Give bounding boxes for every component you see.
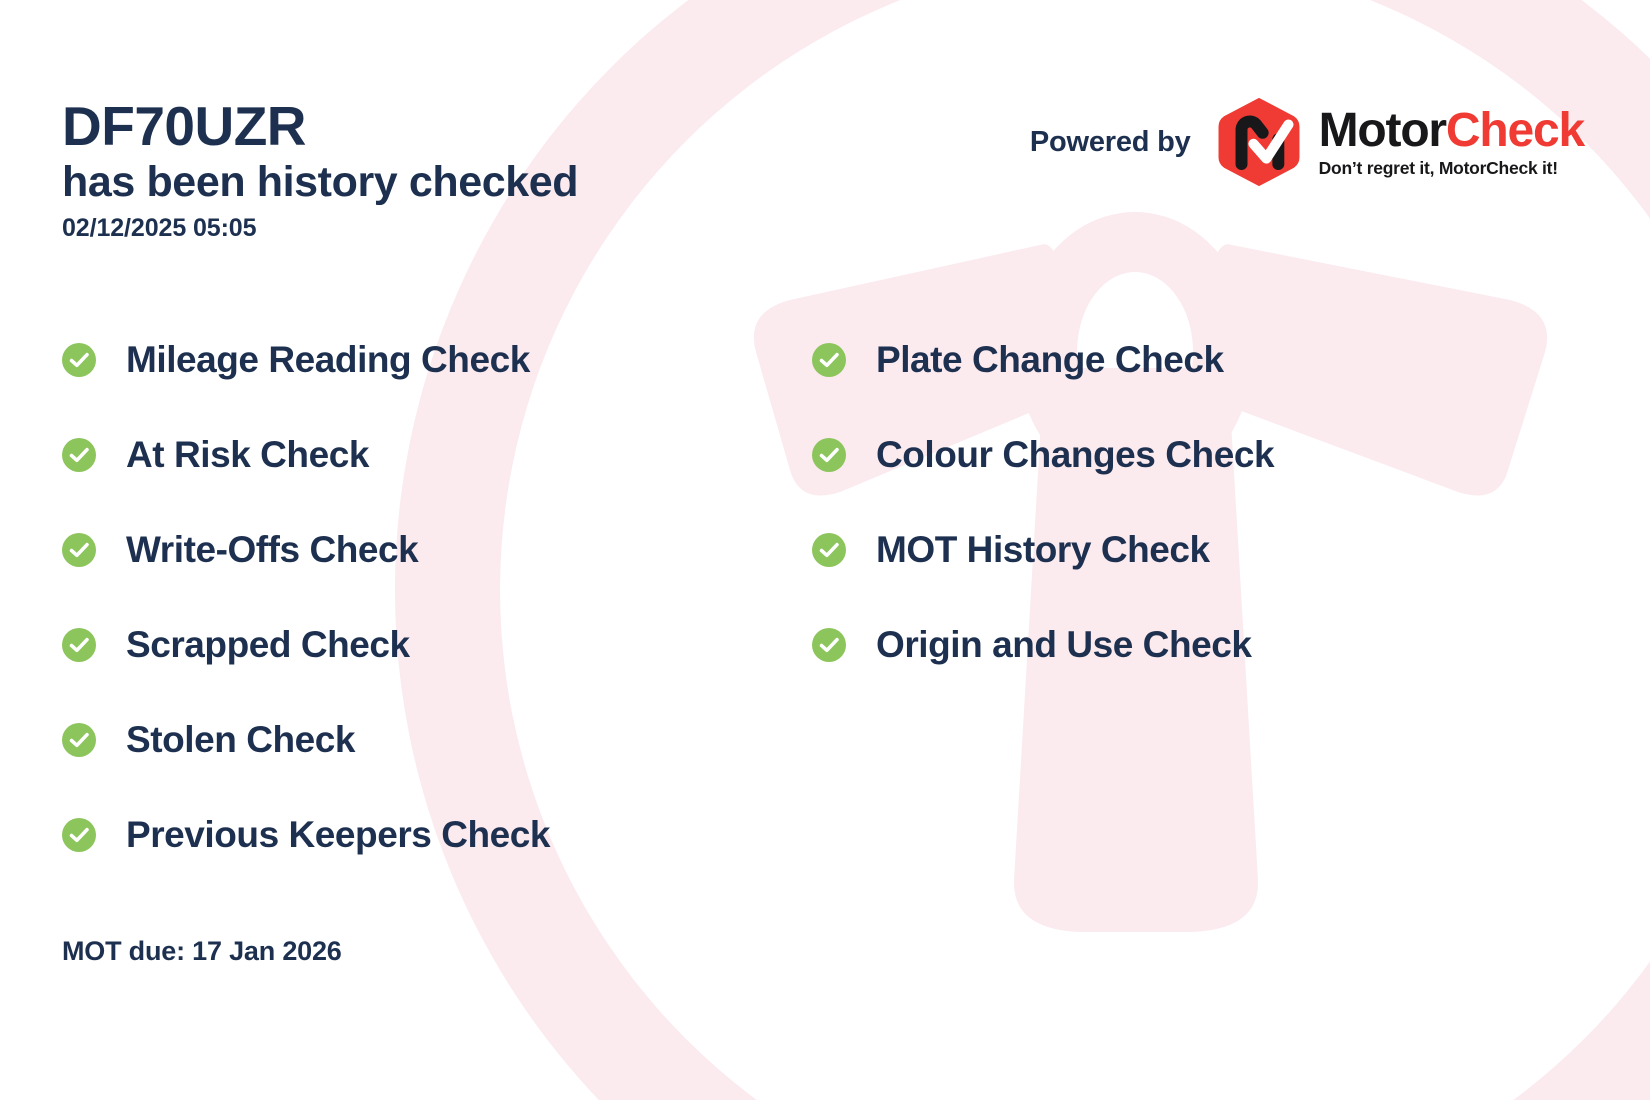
check-label: At Risk Check [126, 434, 369, 476]
brand-lockup: Powered by MotorCheck Don’t regret it, M… [1030, 96, 1584, 188]
list-item: Origin and Use Check [812, 597, 1552, 692]
check-circle-icon [62, 343, 96, 377]
check-label: Plate Change Check [876, 339, 1224, 381]
motorcheck-hexagon-logo-icon [1213, 96, 1305, 188]
brand-tagline: Don’t regret it, MotorCheck it! [1319, 160, 1584, 178]
list-item: Stolen Check [62, 692, 812, 787]
wordmark-motor: Motor [1319, 104, 1446, 157]
checks-column-left: Mileage Reading Check At Risk Check Writ… [62, 312, 812, 882]
check-circle-icon [62, 533, 96, 567]
checks-container: Mileage Reading Check At Risk Check Writ… [62, 312, 1582, 882]
check-label: Stolen Check [126, 719, 355, 761]
list-item: Plate Change Check [812, 312, 1552, 407]
list-item: Write-Offs Check [62, 502, 812, 597]
check-circle-icon [62, 628, 96, 662]
check-label: Previous Keepers Check [126, 814, 550, 856]
check-circle-icon [812, 628, 846, 662]
list-item: At Risk Check [62, 407, 812, 502]
motorcheck-wordmark: MotorCheck Don’t regret it, MotorCheck i… [1319, 107, 1584, 178]
mot-due-label: MOT due: 17 Jan 2026 [62, 936, 342, 967]
page-title: DF70UZR [62, 98, 822, 155]
check-label: Colour Changes Check [876, 434, 1274, 476]
check-circle-icon [62, 438, 96, 472]
check-label: Origin and Use Check [876, 624, 1252, 666]
list-item: Mileage Reading Check [62, 312, 812, 407]
check-circle-icon [62, 723, 96, 757]
header: DF70UZR has been history checked 02/12/2… [62, 98, 822, 243]
checks-column-right: Plate Change Check Colour Changes Check … [812, 312, 1552, 882]
list-item: Scrapped Check [62, 597, 812, 692]
check-label: Write-Offs Check [126, 529, 418, 571]
check-circle-icon [812, 343, 846, 377]
wordmark-check: Check [1446, 104, 1584, 157]
check-label: Scrapped Check [126, 624, 410, 666]
check-timestamp: 02/12/2025 05:05 [62, 214, 822, 243]
check-circle-icon [62, 818, 96, 852]
check-circle-icon [812, 438, 846, 472]
wordmark-text: MotorCheck [1319, 107, 1584, 155]
check-circle-icon [812, 533, 846, 567]
motorcheck-logo: MotorCheck Don’t regret it, MotorCheck i… [1213, 96, 1584, 188]
history-check-card: DF70UZR has been history checked 02/12/2… [0, 0, 1650, 1100]
list-item: Previous Keepers Check [62, 787, 812, 882]
page-subtitle: has been history checked [62, 157, 822, 208]
powered-by-label: Powered by [1030, 126, 1191, 159]
list-item: Colour Changes Check [812, 407, 1552, 502]
list-item: MOT History Check [812, 502, 1552, 597]
check-label: MOT History Check [876, 529, 1210, 571]
check-label: Mileage Reading Check [126, 339, 530, 381]
